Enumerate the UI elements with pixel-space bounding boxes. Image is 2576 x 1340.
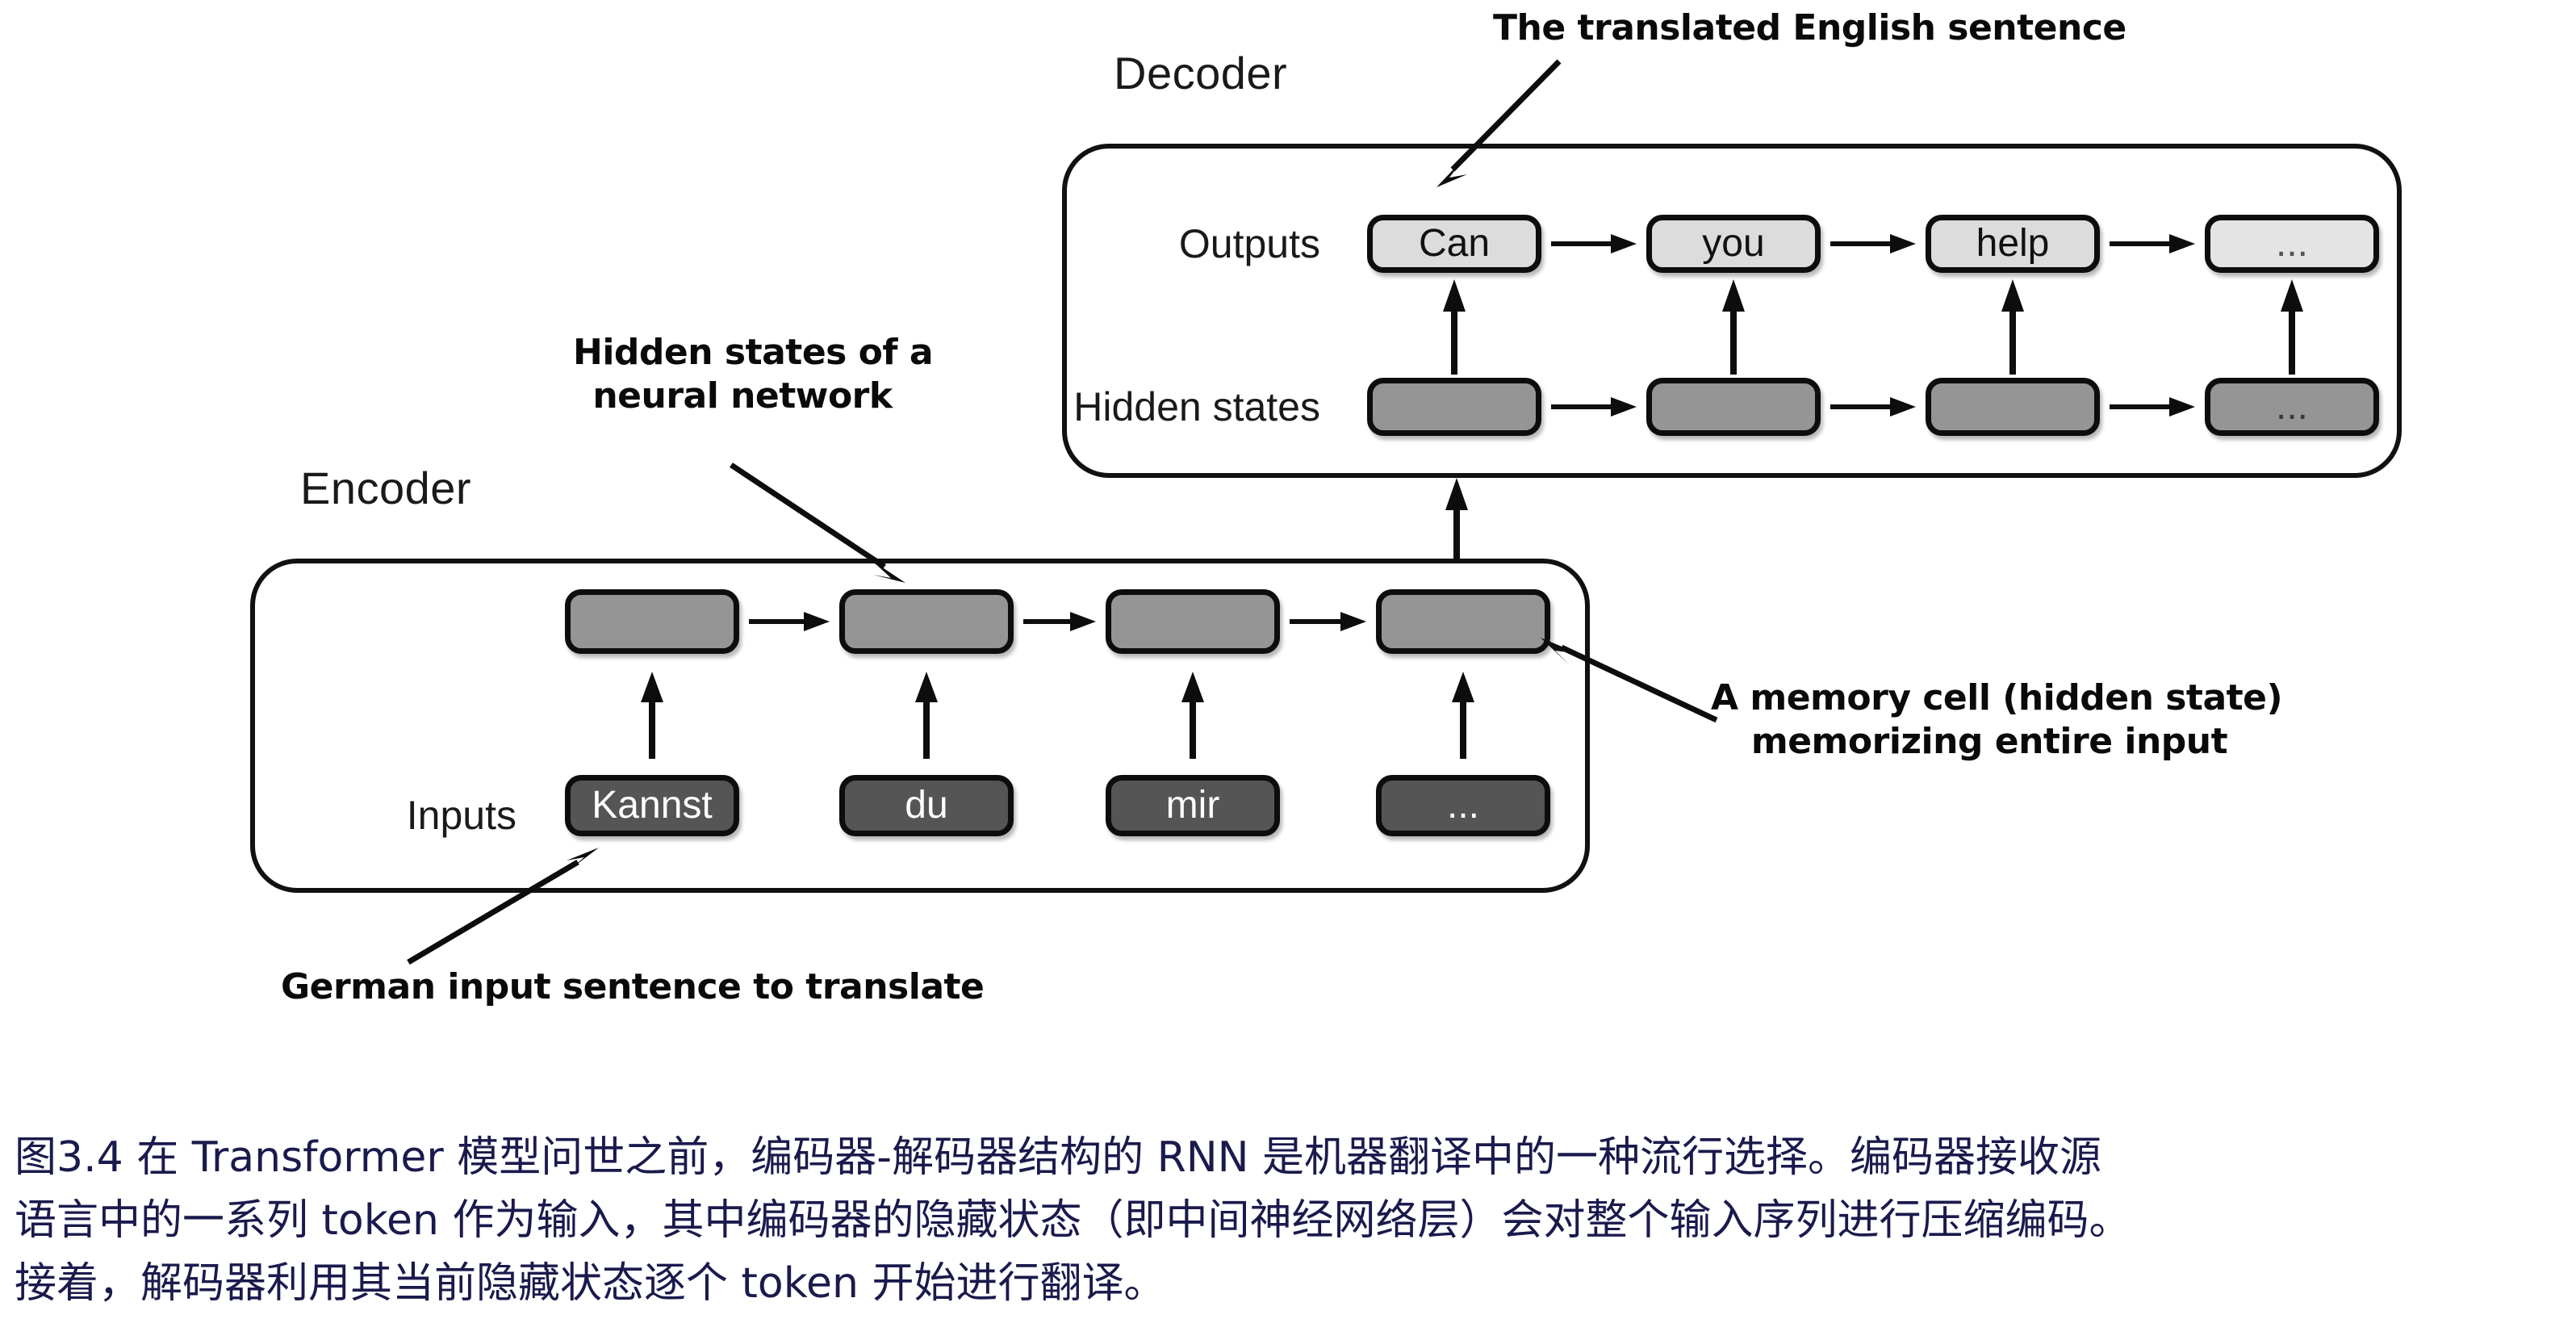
arrow-encoder-up-1 (639, 672, 665, 759)
callout-memory-cell: A memory cell (hidden state) memorizing … (1711, 676, 2268, 763)
figure-canvas: Decoder Outputs Hidden states Can you he… (0, 0, 2576, 1340)
arrow-encoder-hidden-2-3 (1023, 610, 1096, 633)
callout-memory-cell-line2: memorizing entire input (1711, 720, 2268, 764)
arrow-encoder-up-4 (1450, 672, 1476, 759)
arrow-encoder-up-3 (1180, 672, 1206, 759)
arrow-decoder-up-3 (2000, 279, 2026, 375)
decoder-hidden-cell-3[interactable] (1926, 378, 2100, 436)
encoder-input-cell-3[interactable]: mir (1106, 775, 1280, 836)
arrow-decoder-hidden-2-3 (1830, 396, 1916, 418)
decoder-hidden-cell-4[interactable]: ... (2205, 378, 2379, 436)
arrow-decoder-up-4 (2279, 279, 2305, 375)
arrow-decoder-output-1-2 (1551, 232, 1637, 255)
decoder-output-cell-4[interactable]: ... (2205, 215, 2379, 273)
arrow-encoder-hidden-3-4 (1290, 610, 1366, 633)
arrow-decoder-hidden-3-4 (2110, 396, 2195, 418)
caption-line-3: 接着，解码器利用其当前隐藏状态逐个 token 开始进行翻译。 (15, 1252, 2565, 1315)
arrow-decoder-output-2-3 (1830, 232, 1916, 255)
leader-line-translated-sentence (1420, 57, 1566, 194)
encoder-title: Encoder (300, 462, 471, 514)
arrow-decoder-output-3-4 (2110, 232, 2195, 255)
decoder-output-cell-3[interactable]: help (1926, 215, 2100, 273)
arrow-decoder-up-1 (1441, 279, 1467, 375)
decoder-title: Decoder (1114, 47, 1287, 99)
leader-line-memory-cell (1529, 638, 1723, 727)
encoder-input-cell-2[interactable]: du (839, 775, 1014, 836)
encoder-hidden-cell-2[interactable] (839, 589, 1014, 654)
row-label-outputs: Outputs (1127, 220, 1320, 267)
callout-hidden-states-nn-line1: Hidden states of a (573, 331, 912, 375)
callout-hidden-states-nn: Hidden states of a neural network (573, 331, 912, 417)
callout-memory-cell-line1: A memory cell (hidden state) (1711, 676, 2268, 720)
arrow-decoder-hidden-1-2 (1551, 396, 1637, 418)
decoder-hidden-cell-2[interactable] (1646, 378, 1821, 436)
leader-line-hidden-states-nn (726, 460, 928, 597)
encoder-input-cell-4[interactable]: ... (1376, 775, 1550, 836)
row-label-inputs: Inputs (323, 792, 516, 839)
decoder-output-cell-1[interactable]: Can (1367, 215, 1541, 273)
callout-translated-sentence: The translated English sentence (1493, 6, 2126, 50)
figure-caption: 图3.4 在 Transformer 模型问世之前，编码器-解码器结构的 RNN… (15, 1126, 2565, 1315)
row-label-hidden-states: Hidden states (1062, 383, 1320, 430)
caption-line-2: 语言中的一系列 token 作为输入，其中编码器的隐藏状态（即中间神经网络层）会… (15, 1189, 2565, 1252)
caption-line-1: 图3.4 在 Transformer 模型问世之前，编码器-解码器结构的 RNN… (15, 1126, 2565, 1189)
decoder-output-cell-2[interactable]: you (1646, 215, 1821, 273)
callout-german-input: German input sentence to translate (281, 965, 984, 1009)
encoder-input-cell-1[interactable]: Kannst (565, 775, 739, 836)
arrow-decoder-up-2 (1721, 279, 1746, 375)
arrow-encoder-up-2 (914, 672, 939, 759)
arrow-encoder-hidden-1-2 (749, 610, 830, 633)
encoder-hidden-cell-4[interactable] (1376, 589, 1550, 654)
encoder-hidden-cell-1[interactable] (565, 589, 739, 654)
encoder-hidden-cell-3[interactable] (1106, 589, 1280, 654)
arrow-encoder-to-decoder (1444, 478, 1470, 562)
callout-hidden-states-nn-line2: neural network (573, 375, 912, 418)
decoder-hidden-cell-1[interactable] (1367, 378, 1541, 436)
leader-line-german-input (404, 840, 613, 969)
